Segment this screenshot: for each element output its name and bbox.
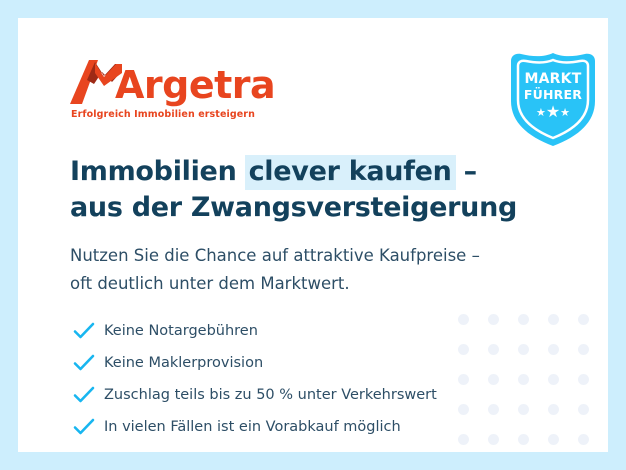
dot-decoration (578, 434, 589, 445)
dot-decoration (578, 314, 589, 325)
dot-decoration (578, 404, 589, 415)
check-icon (72, 385, 96, 405)
dot-decoration (458, 404, 469, 415)
dot-grid-decoration (448, 304, 598, 452)
dot-decoration (458, 314, 469, 325)
headline: Immobilien clever kaufen – aus der Zwang… (70, 154, 517, 226)
logo-row: Argetra (70, 58, 275, 106)
argetra-logo[interactable]: Argetra Erfolgreich Immobilien ersteiger… (70, 58, 275, 120)
dot-decoration (518, 434, 529, 445)
checklist-item-label: In vielen Fällen ist ein Vorabkauf mögli… (104, 419, 401, 435)
dot-decoration (518, 404, 529, 415)
dot-decoration (488, 344, 499, 355)
headline-line-1: Immobilien clever kaufen – (70, 156, 477, 187)
logo-tagline: Erfolgreich Immobilien ersteigern (71, 109, 275, 120)
checklist-item-label: Zuschlag teils bis zu 50 % unter Verkehr… (104, 387, 437, 403)
dot-decoration (518, 344, 529, 355)
dot-decoration (488, 434, 499, 445)
headline-line-2: aus der Zwangsversteigerung (70, 192, 517, 223)
subheading: Nutzen Sie die Chance auf attraktive Kau… (70, 242, 480, 298)
dot-decoration (578, 344, 589, 355)
dot-decoration (518, 374, 529, 385)
dot-decoration (578, 374, 589, 385)
check-icon (72, 417, 96, 437)
headline-suffix: – (455, 156, 477, 187)
subheading-line-2: oft deutlich unter dem Marktwert. (70, 274, 350, 293)
market-leader-badge: MARKT FÜHRER ★ ★ ★ (507, 51, 599, 148)
dot-decoration (518, 314, 529, 325)
headline-prefix: Immobilien (70, 156, 246, 187)
checklist-item-label: Keine Notargebühren (104, 323, 258, 339)
logo-wordmark: Argetra (115, 65, 275, 105)
dot-decoration (488, 314, 499, 325)
checklist-item: Keine Notargebühren (72, 316, 437, 345)
check-icon (72, 353, 96, 373)
dot-decoration (458, 374, 469, 385)
checklist-item: Zuschlag teils bis zu 50 % unter Verkehr… (72, 380, 437, 409)
dot-decoration (488, 404, 499, 415)
dot-decoration (488, 374, 499, 385)
shield-icon (507, 51, 599, 148)
dot-decoration (548, 344, 559, 355)
checklist-item-label: Keine Maklerprovision (104, 355, 263, 371)
check-icon (72, 321, 96, 341)
dot-decoration (548, 374, 559, 385)
dot-decoration (458, 434, 469, 445)
dot-decoration (458, 344, 469, 355)
checklist-item: In vielen Fällen ist ein Vorabkauf mögli… (72, 412, 437, 441)
checklist-item: Keine Maklerprovision (72, 348, 437, 377)
dot-decoration (548, 404, 559, 415)
benefits-checklist: Keine NotargebührenKeine Maklerprovision… (72, 316, 437, 444)
ad-card: Argetra Erfolgreich Immobilien ersteiger… (18, 18, 608, 452)
subheading-line-1: Nutzen Sie die Chance auf attraktive Kau… (70, 246, 480, 265)
dot-decoration (548, 314, 559, 325)
dot-decoration (548, 434, 559, 445)
headline-highlight: clever kaufen (245, 155, 456, 190)
ad-banner: Argetra Erfolgreich Immobilien ersteiger… (0, 0, 626, 470)
argetra-a-roof-mark-icon (70, 58, 122, 106)
